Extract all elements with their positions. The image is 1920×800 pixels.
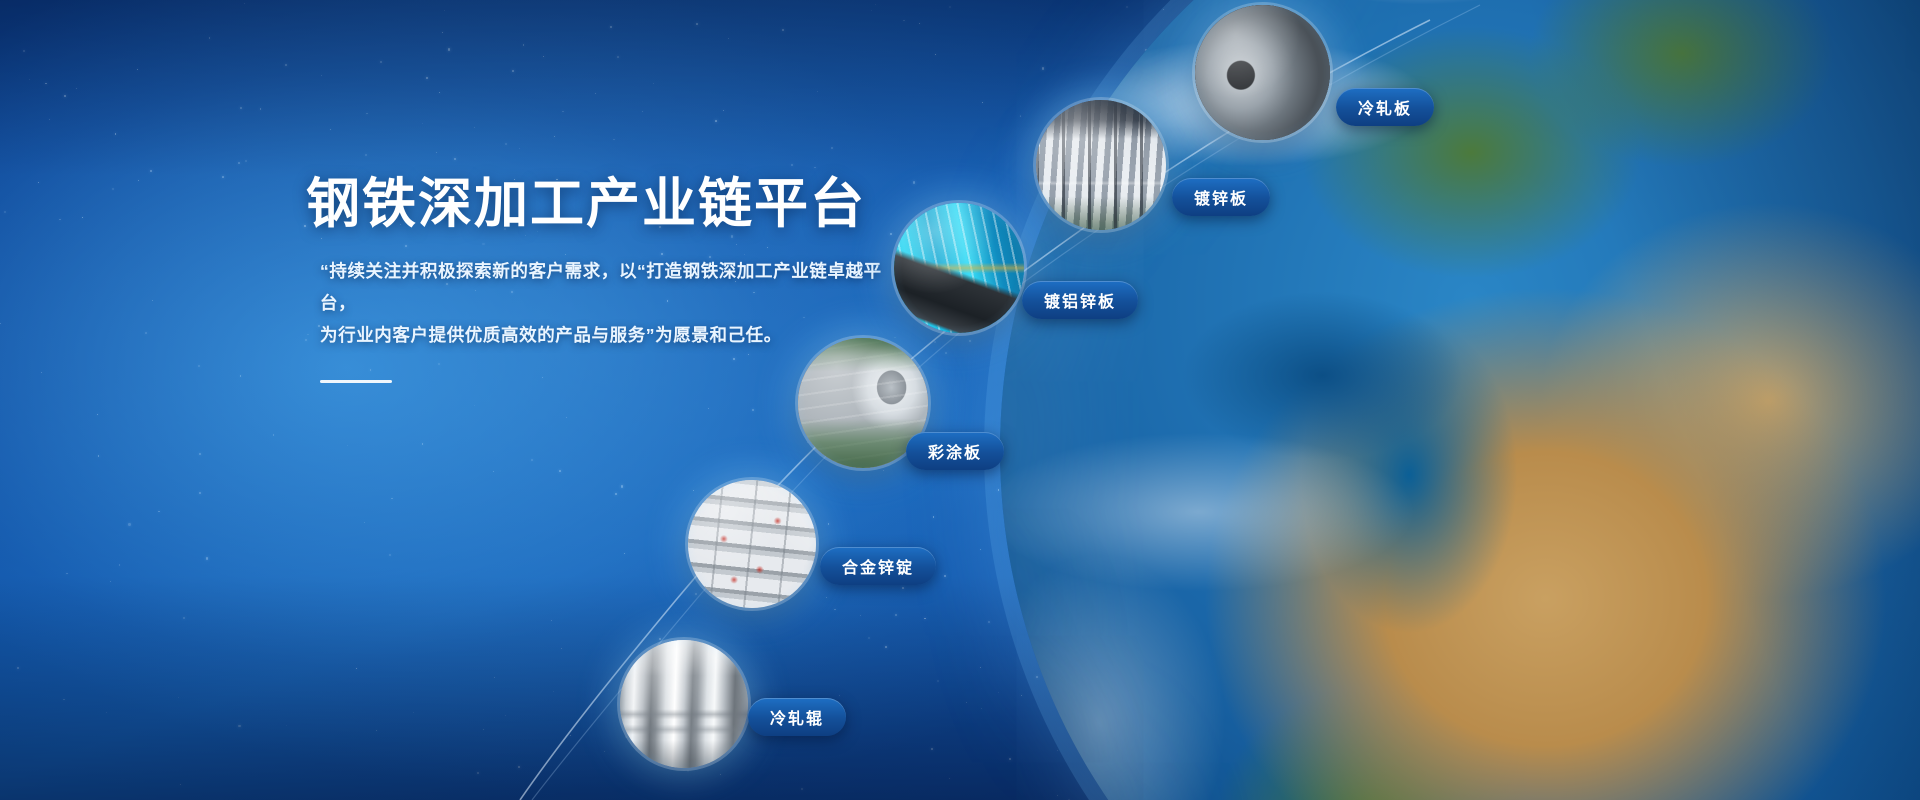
- bubble-gloss: [620, 640, 748, 768]
- label-cold-rolling-roll[interactable]: 冷轧辊: [748, 698, 846, 736]
- connector-arc: [0, 0, 1920, 800]
- bubble-galvanized-plate[interactable]: [1036, 100, 1166, 230]
- label-galvanized-plate[interactable]: 镀锌板: [1172, 178, 1270, 216]
- page-title: 钢铁深加工产业链平台: [306, 176, 946, 233]
- title-underline-rule: [320, 380, 392, 383]
- bubble-gloss: [1195, 5, 1330, 140]
- hero-banner: 钢铁深加工产业链平台 “持续关注并积极探索新的客户需求，以“打造钢铁深加工产业链…: [0, 0, 1920, 800]
- label-color-coated-plate[interactable]: 彩涂板: [906, 432, 1004, 470]
- bubble-cold-rolling-roll[interactable]: [620, 640, 748, 768]
- label-zinc-alloy-ingot[interactable]: 合金锌锭: [820, 547, 936, 585]
- label-cold-rolled-plate[interactable]: 冷轧板: [1336, 88, 1434, 126]
- bubble-gloss: [1036, 100, 1166, 230]
- label-aluzinc-coated-plate[interactable]: 镀铝锌板: [1022, 281, 1138, 319]
- bubble-cold-rolled-plate[interactable]: [1195, 5, 1330, 140]
- bubble-aluzinc-coated-plate[interactable]: [894, 203, 1024, 333]
- bubble-zinc-alloy-ingot[interactable]: [688, 480, 816, 608]
- hero-subtitle-line-2: 为行业内客户提供优质高效的产品与服务”为愿景和己任。: [320, 325, 782, 345]
- bubble-gloss: [688, 480, 816, 608]
- hero-subtitle-line-1: “持续关注并积极探索新的客户需求，以“打造钢铁深加工产业链卓越平台，: [320, 261, 882, 313]
- bubble-gloss: [894, 203, 1024, 333]
